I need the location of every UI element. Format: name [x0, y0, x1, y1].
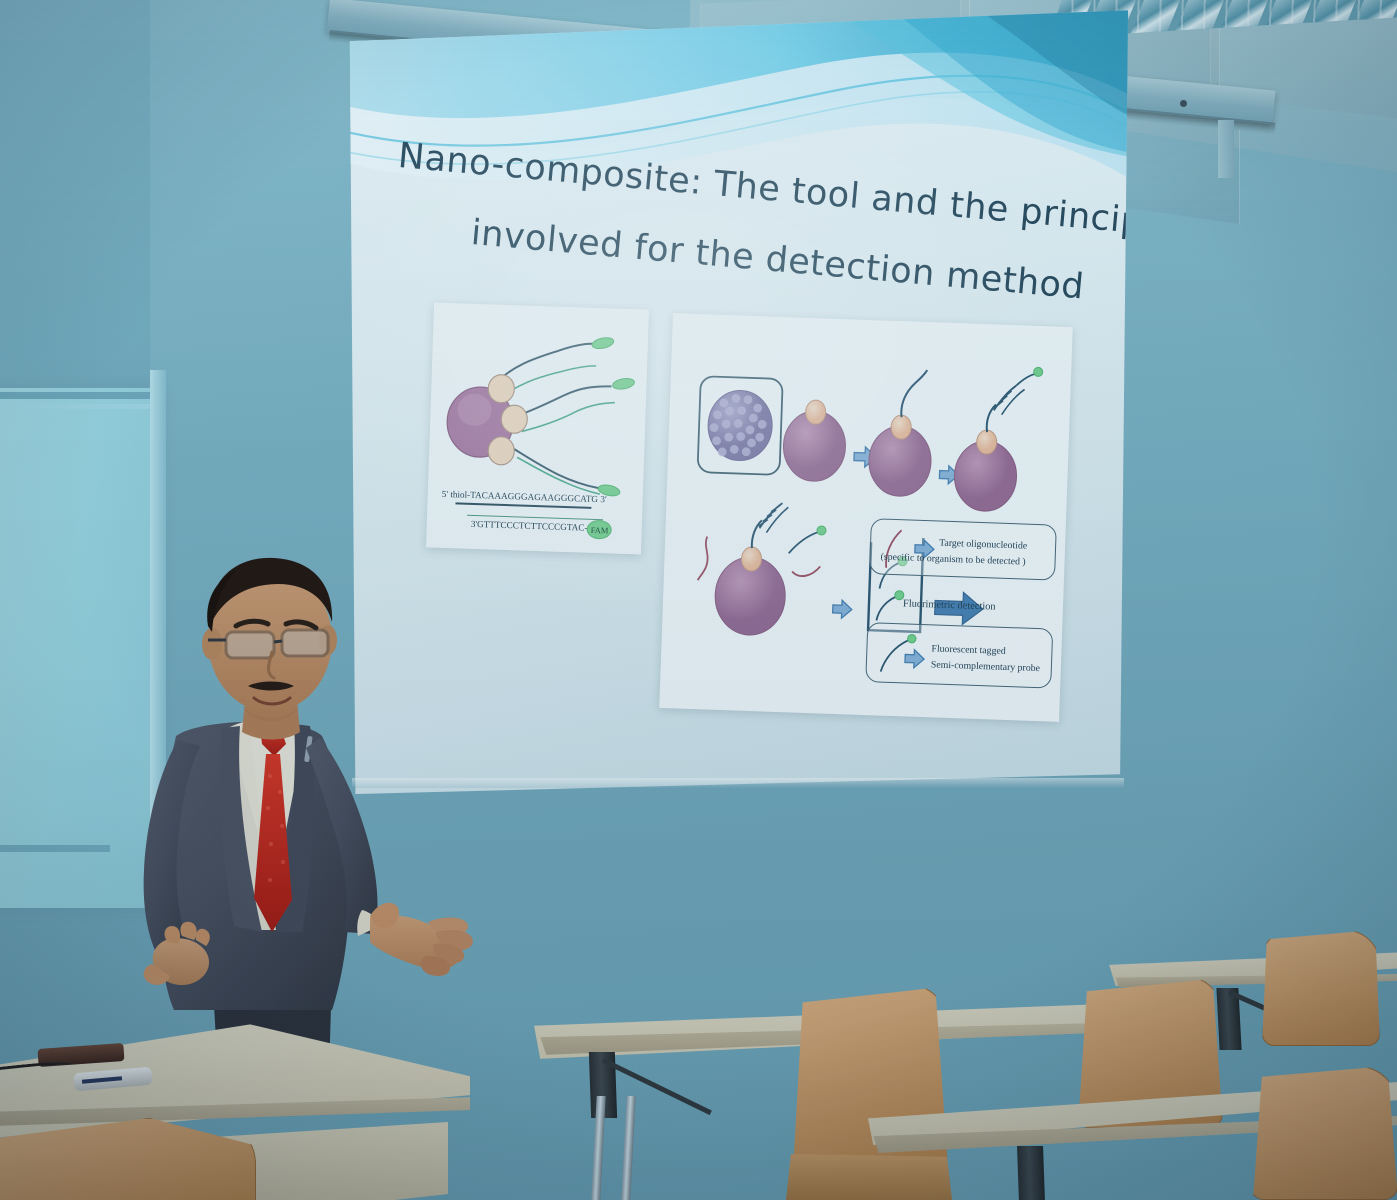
right-diagram-panel: Target oligonucleotide (specific to orga…	[659, 313, 1073, 722]
chair-backrest	[1262, 930, 1380, 1046]
table-brace	[602, 1058, 712, 1115]
chair-backrest	[1250, 1066, 1397, 1200]
chair-foreground-left	[0, 1118, 260, 1200]
legend-probe-icon	[866, 623, 1054, 689]
legend-target-icon	[870, 519, 1058, 581]
beam-bracket	[1218, 120, 1234, 178]
glasses-icon	[208, 630, 328, 658]
left-diagram-panel: 5' thiol-TACAAAGGGAGAAGGGCATG 3' 3'GTTTC…	[426, 303, 649, 555]
table-leg-chrome	[621, 1096, 635, 1200]
table-leg	[1017, 1146, 1045, 1200]
legend-fluorescent-probe: Fluorescent tagged Semi-complementary pr…	[865, 622, 1053, 688]
panel-seam	[0, 392, 158, 399]
beam-screw	[1180, 100, 1187, 107]
lecture-room-photo: Nano-composite: The tool and the princip…	[0, 0, 1397, 1200]
fam-label: FAM	[591, 525, 609, 536]
panel-seam	[0, 404, 158, 409]
chair-backrest	[0, 1118, 256, 1200]
chair-front-right	[1250, 1066, 1397, 1200]
legend-target-oligonucleotide: Target oligonucleotide (specific to orga…	[869, 518, 1057, 580]
chair-far-right	[1262, 930, 1382, 1050]
left-wall-upper	[0, 0, 150, 392]
